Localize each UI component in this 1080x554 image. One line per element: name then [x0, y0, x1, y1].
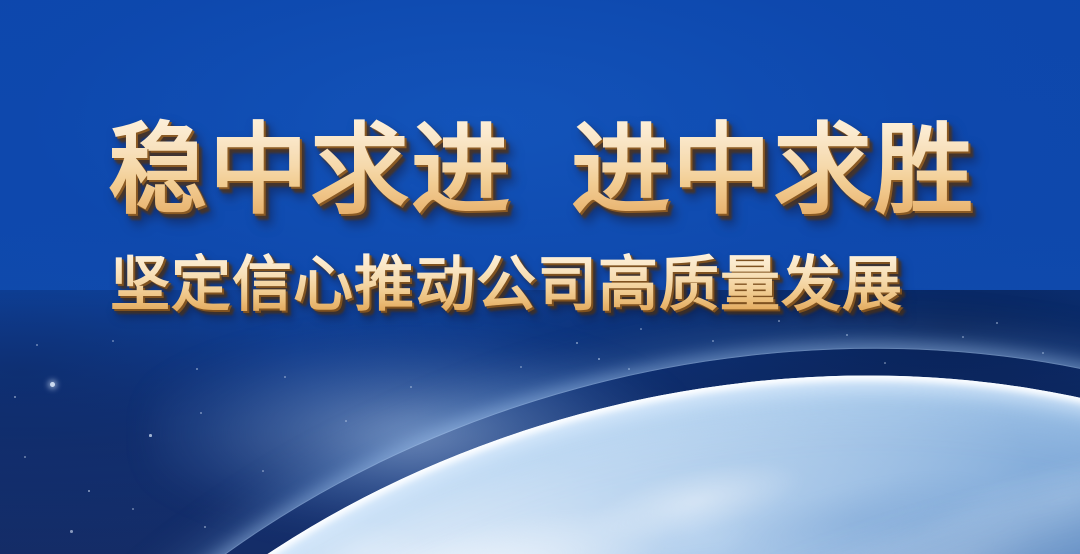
star-icon	[132, 508, 134, 510]
star-icon	[196, 368, 198, 370]
star-icon	[712, 340, 714, 342]
star-icon	[284, 376, 286, 378]
poster-canvas: 稳中求进 进中求胜 坚定信心推动公司高质量发展	[0, 0, 1080, 554]
star-icon	[846, 334, 848, 336]
star-icon	[204, 526, 206, 528]
star-icon	[520, 366, 522, 368]
star-icon	[50, 382, 55, 387]
star-icon	[36, 344, 38, 346]
star-icon	[24, 456, 26, 458]
star-icon	[112, 340, 114, 342]
star-icon	[345, 420, 347, 422]
star-icon	[778, 320, 780, 322]
star-icon	[962, 336, 964, 338]
slogan-block: 稳中求进 进中求胜 坚定信心推动公司高质量发展	[108, 118, 998, 318]
star-icon	[628, 368, 630, 370]
star-icon	[640, 328, 642, 330]
star-icon	[410, 386, 412, 388]
star-icon	[262, 470, 264, 472]
star-icon	[598, 358, 600, 360]
star-icon	[1042, 352, 1044, 354]
star-icon	[70, 530, 73, 533]
star-icon	[200, 412, 202, 414]
star-icon	[996, 322, 998, 324]
star-icon	[884, 362, 886, 364]
headline-slogan: 稳中求进 进中求胜	[108, 118, 998, 223]
star-icon	[149, 434, 152, 437]
star-icon	[14, 396, 16, 398]
star-icon	[88, 490, 90, 492]
star-icon	[576, 342, 578, 344]
subheadline-slogan: 坚定信心推动公司高质量发展	[110, 253, 998, 318]
